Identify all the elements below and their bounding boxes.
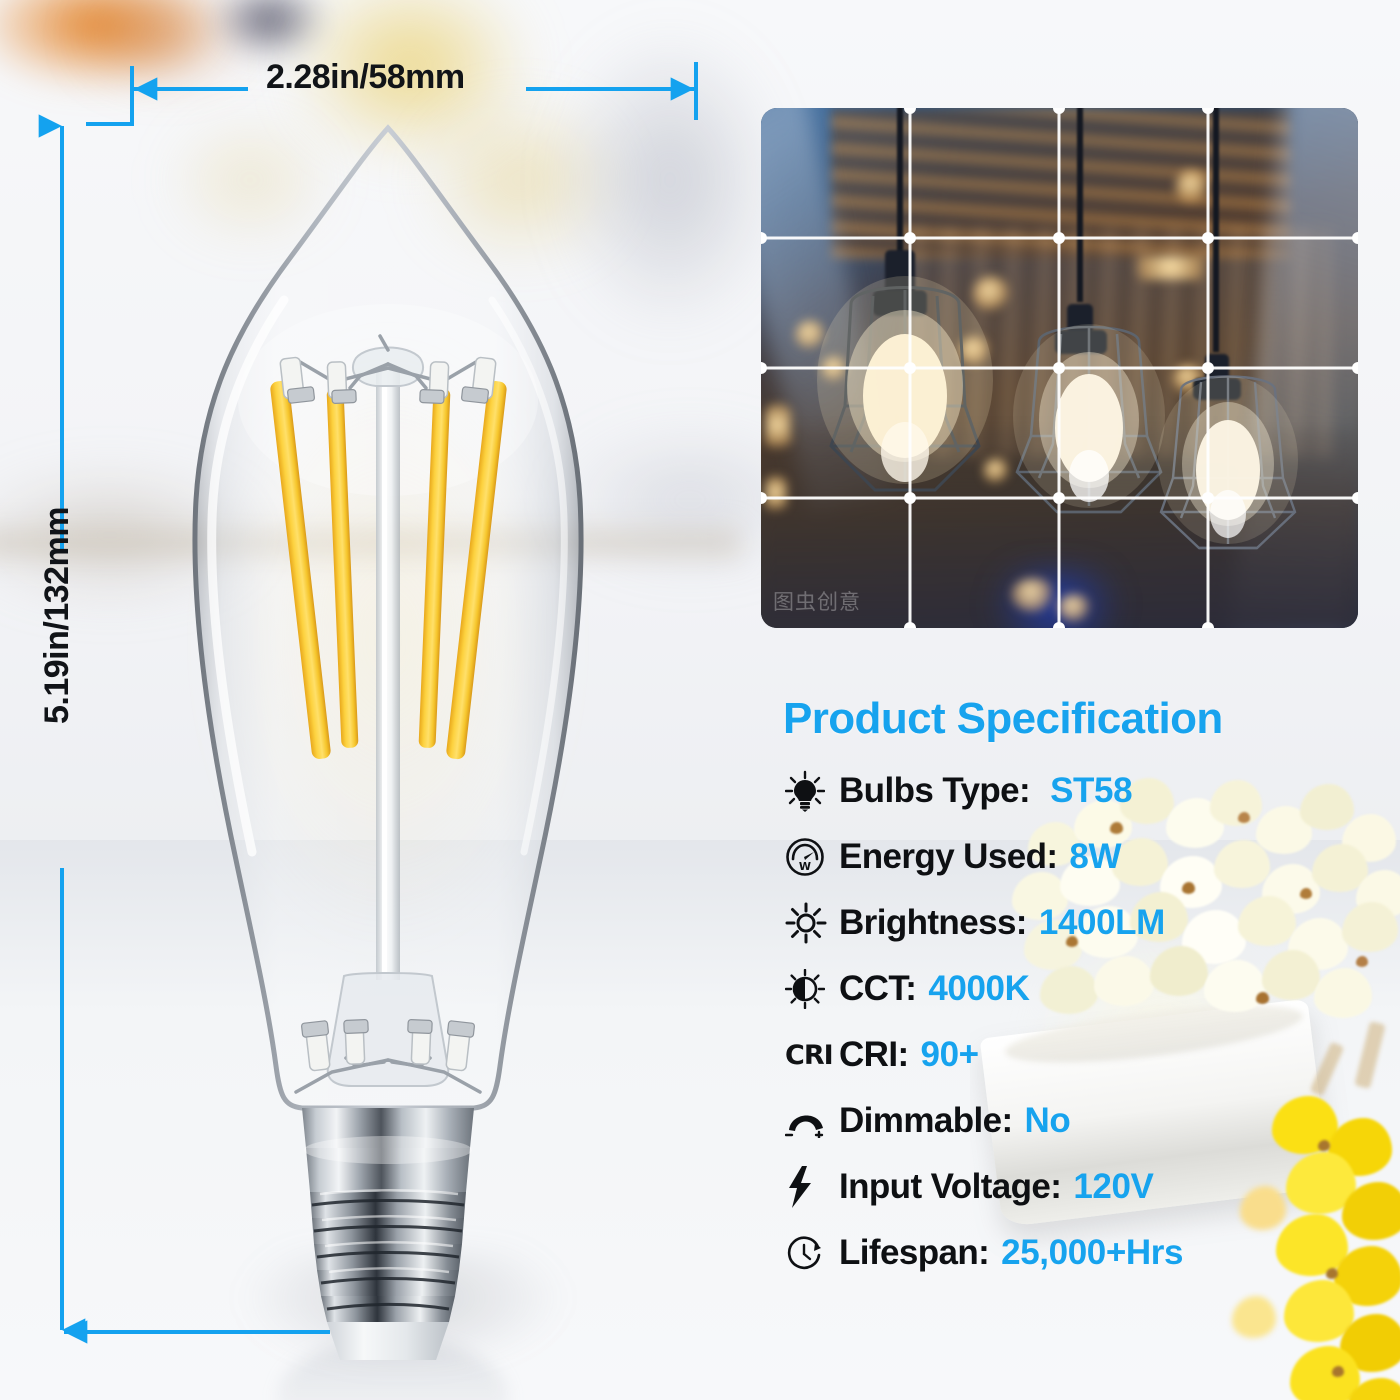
height-dimension-label: 5.19in/132mm bbox=[38, 507, 77, 724]
spec-row-energy-used: W Energy Used: 8W bbox=[783, 824, 1383, 890]
spec-value: 120V bbox=[1073, 1167, 1153, 1207]
spec-value: 8W bbox=[1069, 837, 1121, 877]
lightning-bolt-icon bbox=[785, 1166, 839, 1208]
spec-row-input-voltage: Input Voltage: 120V bbox=[783, 1154, 1383, 1220]
dimmer-arc-icon bbox=[785, 1104, 839, 1138]
spec-value: ST58 bbox=[1050, 771, 1132, 811]
spec-label: Bulbs Type: bbox=[839, 771, 1030, 811]
svg-text:W: W bbox=[799, 860, 811, 873]
spec-label: Brightness: bbox=[839, 903, 1027, 943]
spec-row-cct: CCT: 4000K bbox=[783, 956, 1383, 1022]
spec-panel-title: Product Specification bbox=[783, 694, 1383, 744]
wattage-gauge-icon: W bbox=[785, 837, 839, 877]
spec-label: Energy Used: bbox=[839, 837, 1057, 877]
photo-grid-overlay bbox=[761, 108, 1358, 628]
light-bulb-icon bbox=[785, 770, 839, 812]
spec-label: Lifespan: bbox=[839, 1233, 989, 1273]
product-specification-panel: Product Specification bbox=[783, 694, 1383, 1286]
spec-label: CCT: bbox=[839, 969, 916, 1009]
spec-value: 1400LM bbox=[1039, 903, 1165, 943]
lifestyle-photo[interactable]: 图虫创意 bbox=[761, 108, 1358, 628]
product-infographic: 2.28in/58mm 5.19in/132mm bbox=[0, 0, 1400, 1400]
spec-label: CRI: bbox=[839, 1035, 909, 1075]
spec-row-lifespan: Lifespan: 25,000+Hrs bbox=[783, 1220, 1383, 1286]
spec-row-dimmable: Dimmable: No bbox=[783, 1088, 1383, 1154]
corner-bracket bbox=[86, 66, 132, 124]
sun-brightness-icon bbox=[785, 902, 839, 944]
spec-value: 90+ bbox=[921, 1035, 979, 1075]
spec-value: 25,000+Hrs bbox=[1001, 1233, 1183, 1273]
spec-value: 4000K bbox=[928, 969, 1029, 1009]
spec-label: Input Voltage: bbox=[839, 1167, 1061, 1207]
spec-row-bulbs-type: Bulbs Type: ST58 bbox=[783, 758, 1383, 824]
spec-row-cri: CRI CRI: 90+ bbox=[783, 1022, 1383, 1088]
clock-lifespan-icon bbox=[785, 1233, 839, 1273]
cri-text-icon: CRI bbox=[785, 1040, 839, 1071]
color-temp-icon bbox=[785, 969, 839, 1009]
spec-label: Dimmable: bbox=[839, 1101, 1013, 1141]
spec-row-brightness: Brightness: 1400LM bbox=[783, 890, 1383, 956]
spec-value: No bbox=[1025, 1101, 1071, 1141]
width-dimension-label: 2.28in/58mm bbox=[266, 58, 465, 97]
